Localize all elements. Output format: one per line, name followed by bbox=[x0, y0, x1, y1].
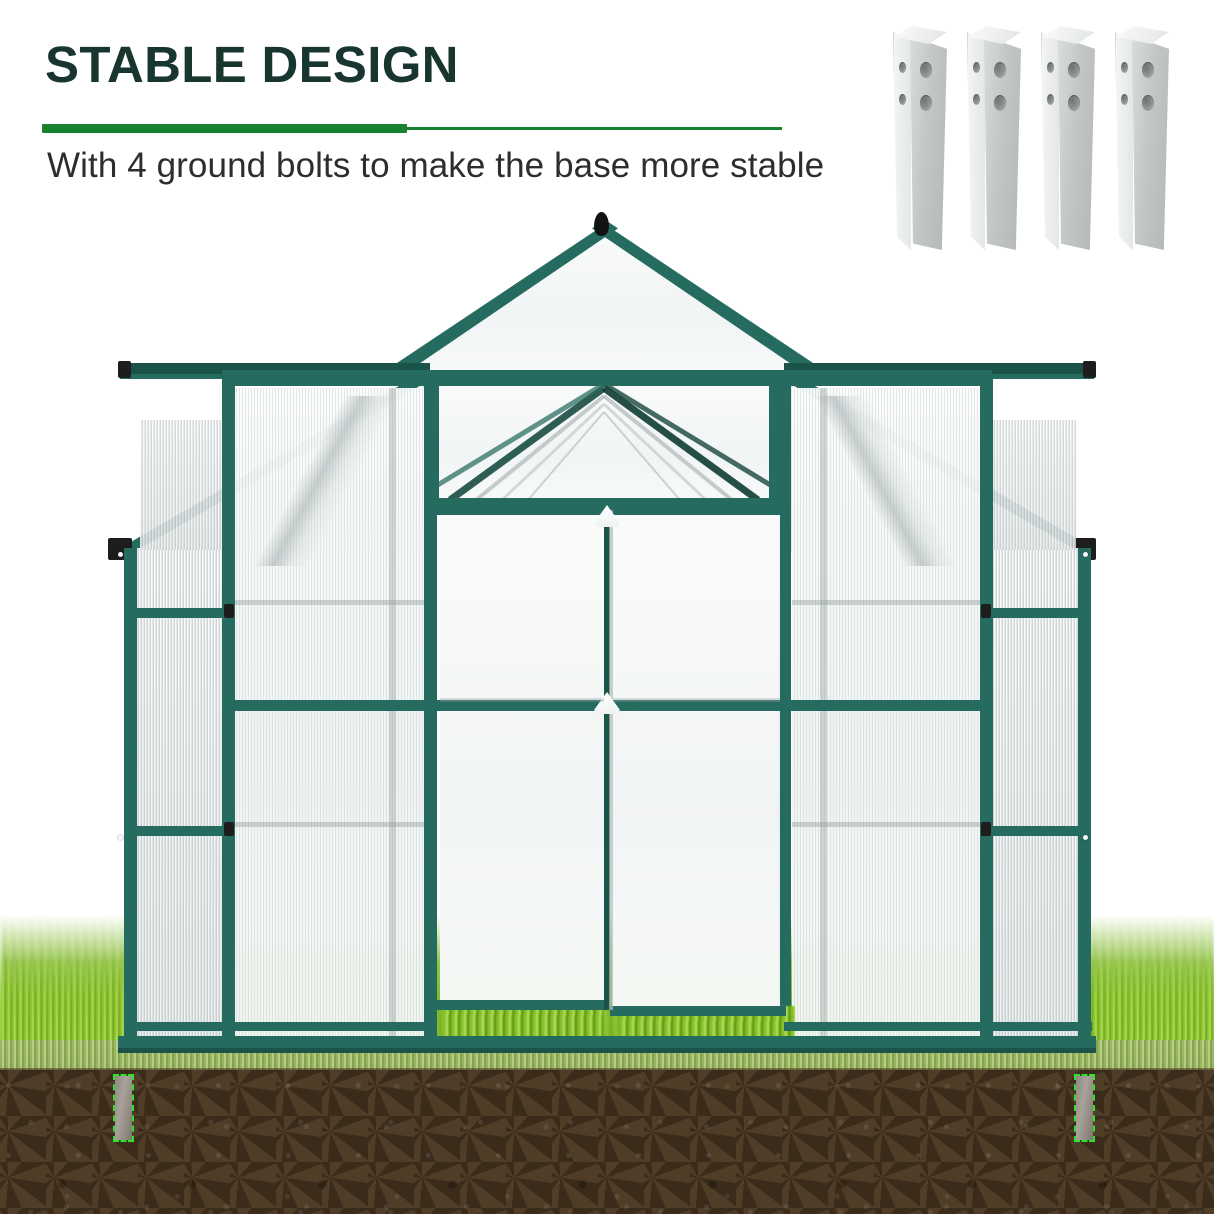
bolt-hole-side-upper bbox=[1047, 62, 1054, 73]
left-wall-rail-upper bbox=[124, 608, 235, 618]
gable-rake-right bbox=[592, 222, 832, 382]
left-wall-mid-post bbox=[222, 378, 235, 1048]
left-wall-rail-mid bbox=[228, 700, 430, 711]
door-interior-ghost-right bbox=[613, 698, 780, 702]
base-sill-right bbox=[784, 1022, 1092, 1031]
door-leaf-right[interactable] bbox=[612, 510, 780, 1012]
buried-ground-bolt-right bbox=[1076, 1076, 1093, 1140]
ground-bolt-sample-1 bbox=[893, 18, 947, 250]
roof-apex-finial-icon bbox=[594, 212, 609, 236]
left-rail-cap-lower-icon bbox=[224, 822, 234, 836]
bolt-hole-front-upper bbox=[1068, 62, 1080, 78]
right-wall-corner-post bbox=[1078, 548, 1091, 1048]
page-subtitle: With 4 ground bolts to make the base mor… bbox=[47, 146, 824, 186]
ground-bolt-sample-3 bbox=[1041, 18, 1095, 250]
buried-ground-bolt-left bbox=[115, 1076, 132, 1140]
left-interior-rafter-shadow bbox=[236, 396, 416, 566]
ridge-vent-top-rail[interactable] bbox=[430, 376, 778, 386]
bolt-hole-front-lower bbox=[994, 95, 1006, 111]
page-title: STABLE DESIGN bbox=[45, 38, 459, 92]
bolt-hole-front-upper bbox=[920, 62, 932, 78]
left-wall-rail-lower bbox=[124, 826, 235, 836]
right-interior-rafter-shadow bbox=[796, 396, 976, 566]
gable-rake-left bbox=[378, 222, 618, 382]
divider-thin-segment bbox=[402, 127, 782, 130]
right-wall-rail-lower bbox=[980, 826, 1091, 836]
left-wall-door-post bbox=[424, 378, 437, 1048]
right-wall-panel-outer bbox=[988, 548, 1086, 1044]
bolt-hole-side-lower bbox=[1047, 94, 1054, 105]
right-rail-cap-lower-icon bbox=[981, 822, 991, 836]
bolt-hole-side-upper bbox=[973, 62, 980, 73]
left-wall-panel-outer bbox=[130, 548, 228, 1044]
right-wall-rail-upper bbox=[980, 608, 1091, 618]
right-wall-rail-mid bbox=[785, 700, 987, 711]
left-wall-screw-1 bbox=[118, 835, 123, 840]
left-rail-cap-upper-icon bbox=[224, 604, 234, 618]
bolt-hole-side-lower bbox=[1121, 94, 1128, 105]
right-wall-screw-2 bbox=[1083, 552, 1088, 557]
ridge-vent-right-stile bbox=[769, 376, 778, 508]
bolt-hole-side-lower bbox=[973, 94, 980, 105]
bolt-hole-side-upper bbox=[899, 62, 906, 73]
base-sill-left bbox=[124, 1022, 436, 1031]
door-bottom-rail-left bbox=[434, 1000, 608, 1010]
right-gutter-end-cap-icon bbox=[1083, 361, 1096, 378]
right-wall-screw-1 bbox=[1083, 835, 1088, 840]
left-wall-screw-2 bbox=[118, 552, 123, 557]
right-wall-mid-post bbox=[980, 378, 993, 1048]
bolt-hole-front-upper bbox=[994, 62, 1006, 78]
gable-rake-left-wrap bbox=[378, 222, 618, 382]
ground-bolt-sample-4 bbox=[1115, 18, 1169, 250]
divider-thick-segment bbox=[42, 124, 407, 133]
base-frame-rail-shadow bbox=[118, 1048, 1096, 1053]
title-divider bbox=[42, 124, 782, 133]
left-wall-panel-upper-gable bbox=[140, 420, 230, 550]
marketing-image-canvas: STABLE DESIGN With 4 ground bolts to mak… bbox=[0, 0, 1214, 1214]
bolt-hole-front-lower bbox=[1068, 95, 1080, 111]
left-gutter-end-cap-icon bbox=[118, 361, 131, 378]
ground-bolt-sample-group bbox=[893, 18, 1171, 258]
right-rail-cap-upper-icon bbox=[981, 604, 991, 618]
interior-rafters bbox=[436, 382, 772, 504]
door-bottom-rail-right bbox=[610, 1006, 786, 1016]
bolt-hole-front-upper bbox=[1142, 62, 1154, 78]
left-wall-corner-post bbox=[124, 548, 137, 1048]
ground-bolt-sample-2 bbox=[967, 18, 1021, 250]
door-interior-ghost-left bbox=[440, 698, 604, 702]
gable-rake-right-wrap bbox=[592, 222, 832, 382]
right-wall-panel-upper-gable bbox=[986, 420, 1076, 550]
door-leaf-left[interactable] bbox=[440, 510, 608, 1006]
bolt-hole-front-lower bbox=[920, 95, 932, 111]
bolt-hole-side-upper bbox=[1121, 62, 1128, 73]
bolt-hole-front-lower bbox=[1142, 95, 1154, 111]
door-center-stile-highlight bbox=[609, 510, 613, 1010]
bolt-hole-side-lower bbox=[899, 94, 906, 105]
